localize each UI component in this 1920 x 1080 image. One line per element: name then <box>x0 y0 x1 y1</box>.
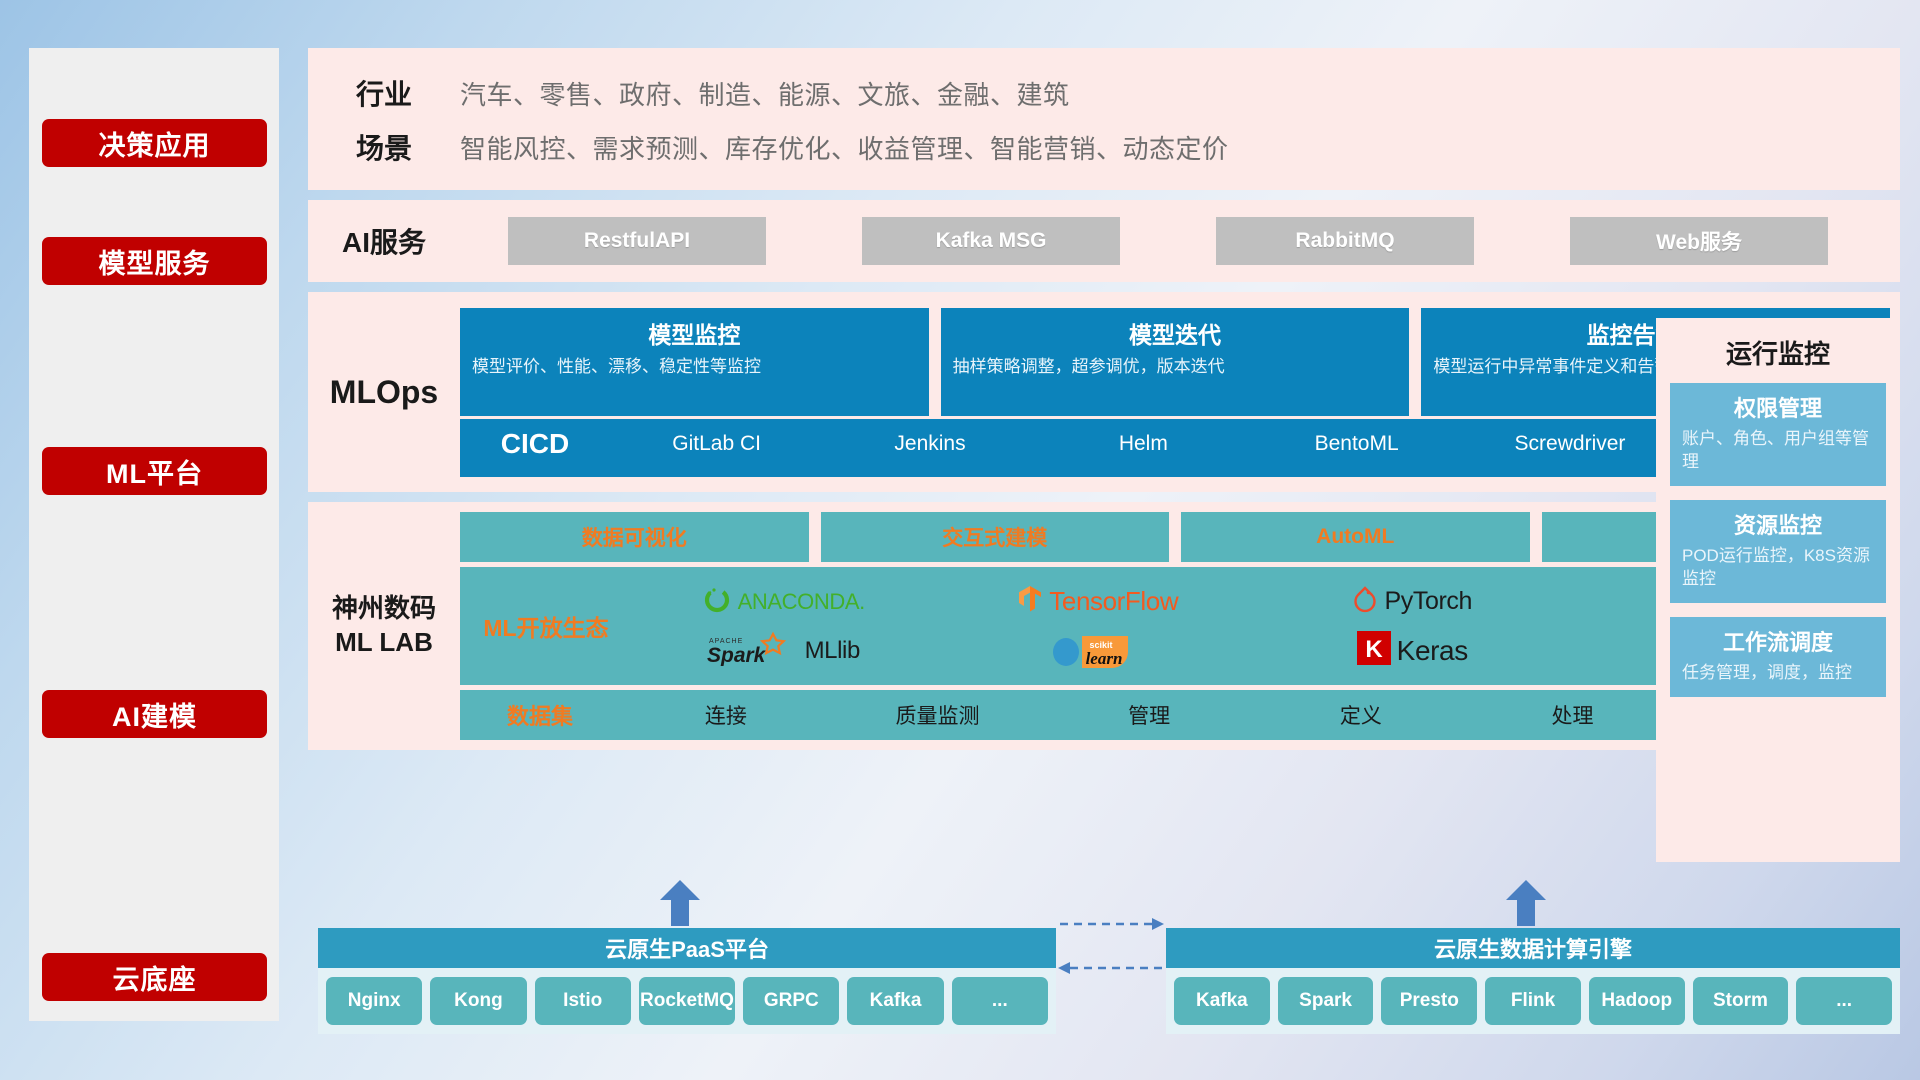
card-title: 模型监控 <box>472 316 917 350</box>
compute-chip-storm[interactable]: Storm <box>1693 977 1789 1025</box>
mlops-label: MLOps <box>308 374 460 411</box>
cicd-item-gitlab-ci[interactable]: GitLab CI <box>610 428 823 457</box>
card-desc: 模型评价、性能、漂移、稳定性等监控 <box>472 356 917 379</box>
compute-chip-spark[interactable]: Spark <box>1278 977 1374 1025</box>
logo-keras-text: Keras <box>1397 635 1468 667</box>
paas-chip-more[interactable]: ... <box>952 977 1048 1025</box>
paas-chip-kafka[interactable]: Kafka <box>847 977 943 1025</box>
lab-tool-interactive-modeling[interactable]: 交互式建模 <box>821 512 1170 562</box>
logo-mllib-text: MLlib <box>805 637 860 665</box>
lab-tool-automl[interactable]: AutoML <box>1181 512 1530 562</box>
pytorch-icon <box>1352 584 1378 619</box>
logo-pytorch-text: PyTorch <box>1384 587 1472 616</box>
runtime-monitoring-rail: 运行监控 权限管理 账户、角色、用户组等管理 资源监控 POD运行监控，K8S资… <box>1656 318 1900 862</box>
rail-item-ai-modeling[interactable]: AI建模 <box>42 690 267 738</box>
rail-item-decision-app[interactable]: 决策应用 <box>42 119 267 167</box>
cicd-item-bentoml[interactable]: BentoML <box>1250 428 1463 457</box>
tensorflow-icon <box>1017 584 1043 619</box>
cicd-item-helm[interactable]: Helm <box>1037 428 1250 457</box>
logo-anaconda-text: ANACONDA. <box>738 589 865 615</box>
paas-chip-kong[interactable]: Kong <box>430 977 526 1025</box>
mlops-card-model-iteration[interactable]: 模型迭代 抽样策略调整，超参调优，版本迭代 <box>941 308 1410 416</box>
ai-service-chip-kafka-msg[interactable]: Kafka MSG <box>862 217 1120 265</box>
svg-text:K: K <box>1365 636 1383 663</box>
logo-tensorflow: TensorFlow <box>941 584 1256 619</box>
industry-row: 行业 汽车、零售、政府、制造、能源、文旅、金融、建筑 <box>308 66 1900 120</box>
ai-service-label: AI服务 <box>308 221 460 261</box>
logo-scikit-learn: scikit learn <box>941 626 1256 675</box>
dataset-item-process[interactable]: 处理 <box>1467 700 1679 730</box>
card-desc: 账户、角色、用户组等管理 <box>1682 428 1874 474</box>
paas-chip-istio[interactable]: Istio <box>535 977 631 1025</box>
spark-icon: APACHE Spark <box>707 630 799 671</box>
compute-engine-panel: 云原生数据计算引擎 Kafka Spark Presto Flink Hadoo… <box>1166 928 1900 1034</box>
logo-keras: K Keras <box>1255 631 1570 670</box>
lab-tool-data-visualization[interactable]: 数据可视化 <box>460 512 809 562</box>
band-divider <box>308 190 1900 200</box>
compute-chip-kafka[interactable]: Kafka <box>1174 977 1270 1025</box>
paas-title: 云原生PaaS平台 <box>318 928 1056 968</box>
card-desc: 任务管理，调度，监控 <box>1682 662 1874 685</box>
cicd-item-screwdriver[interactable]: Screwdriver <box>1463 428 1676 457</box>
ai-service-chip-list: RestfulAPI Kafka MSG RabbitMQ Web服务 <box>460 217 1900 265</box>
dataset-item-connect[interactable]: 连接 <box>620 700 832 730</box>
paas-chip-grpc[interactable]: GRPC <box>743 977 839 1025</box>
ai-service-chip-restfulapi[interactable]: RestfulAPI <box>508 217 766 265</box>
dataset-item-quality-monitor[interactable]: 质量监测 <box>832 700 1044 730</box>
dataset-item-manage[interactable]: 管理 <box>1043 700 1255 730</box>
mlops-card-model-monitoring[interactable]: 模型监控 模型评价、性能、漂移、稳定性等监控 <box>460 308 929 416</box>
keras-icon: K <box>1357 631 1391 670</box>
svg-text:Spark: Spark <box>707 644 767 666</box>
ml-lab-label-line1: 神州数码 <box>308 592 460 626</box>
compute-chip-presto[interactable]: Presto <box>1381 977 1477 1025</box>
upward-arrow-paas-icon <box>658 880 702 926</box>
industry-values: 汽车、零售、政府、制造、能源、文旅、金融、建筑 <box>460 75 1070 112</box>
scenario-row: 场景 智能风控、需求预测、库存优化、收益管理、智能营销、动态定价 <box>308 120 1900 174</box>
rail-item-ml-platform[interactable]: ML平台 <box>42 447 267 495</box>
compute-engine-title: 云原生数据计算引擎 <box>1166 928 1900 968</box>
ml-ecosystem-label: ML开放生态 <box>466 609 626 643</box>
ai-service-chip-web[interactable]: Web服务 <box>1570 217 1828 265</box>
paas-panel: 云原生PaaS平台 Nginx Kong Istio RocketMQ GRPC… <box>318 928 1056 1034</box>
monitor-card-workflow[interactable]: 工作流调度 任务管理，调度，监控 <box>1670 617 1886 697</box>
logo-tensorflow-text: TensorFlow <box>1049 586 1178 617</box>
cicd-title: CICD <box>460 428 610 460</box>
paas-chip-list: Nginx Kong Istio RocketMQ GRPC Kafka ... <box>318 968 1056 1034</box>
dataset-label: 数据集 <box>460 699 620 731</box>
card-desc: 抽样策略调整，超参调优，版本迭代 <box>953 356 1398 379</box>
card-title: 资源监控 <box>1682 508 1874 540</box>
compute-chip-list: Kafka Spark Presto Flink Hadoop Storm ..… <box>1166 968 1900 1034</box>
scikit-learn-icon: scikit learn <box>1052 626 1144 675</box>
scenario-values: 智能风控、需求预测、库存优化、收益管理、智能营销、动态定价 <box>460 129 1229 166</box>
bidirectional-link <box>1056 898 1166 988</box>
logo-anaconda: ANACONDA. <box>626 584 941 619</box>
logo-pytorch: PyTorch <box>1255 584 1570 619</box>
anaconda-icon <box>702 584 732 619</box>
ml-lab-label: 神州数码 ML LAB <box>308 592 460 660</box>
runtime-monitoring-title: 运行监控 <box>1670 334 1886 371</box>
cicd-item-jenkins[interactable]: Jenkins <box>823 428 1036 457</box>
card-title: 权限管理 <box>1682 391 1874 423</box>
rail-item-model-service[interactable]: 模型服务 <box>42 237 267 285</box>
ai-service-chip-rabbitmq[interactable]: RabbitMQ <box>1216 217 1474 265</box>
scenario-label: 场景 <box>308 127 460 167</box>
decision-application-band: 行业 汽车、零售、政府、制造、能源、文旅、金融、建筑 场景 智能风控、需求预测、… <box>308 48 1900 190</box>
card-title: 模型迭代 <box>953 316 1398 350</box>
svg-text:learn: learn <box>1085 649 1122 668</box>
cloud-foundation-section: 云原生PaaS平台 Nginx Kong Istio RocketMQ GRPC… <box>0 880 1920 1080</box>
ai-service-band: AI服务 RestfulAPI Kafka MSG RabbitMQ Web服务 <box>308 200 1900 282</box>
upward-arrow-compute-icon <box>1504 880 1548 926</box>
paas-chip-nginx[interactable]: Nginx <box>326 977 422 1025</box>
ml-lab-label-line2: ML LAB <box>308 626 460 660</box>
industry-label: 行业 <box>308 73 460 113</box>
paas-chip-rocketmq[interactable]: RocketMQ <box>639 977 735 1025</box>
compute-chip-more[interactable]: ... <box>1796 977 1892 1025</box>
logo-spark-mllib: APACHE Spark MLlib <box>626 630 941 671</box>
left-rail: 决策应用 模型服务 ML平台 AI建模 云底座 <box>29 48 279 1021</box>
monitor-card-resource[interactable]: 资源监控 POD运行监控，K8S资源监控 <box>1670 500 1886 603</box>
compute-chip-hadoop[interactable]: Hadoop <box>1589 977 1685 1025</box>
band-divider <box>308 282 1900 292</box>
compute-chip-flink[interactable]: Flink <box>1485 977 1581 1025</box>
card-desc: POD运行监控，K8S资源监控 <box>1682 545 1874 591</box>
dataset-item-define[interactable]: 定义 <box>1255 700 1467 730</box>
monitor-card-permission[interactable]: 权限管理 账户、角色、用户组等管理 <box>1670 383 1886 486</box>
card-title: 工作流调度 <box>1682 625 1874 657</box>
